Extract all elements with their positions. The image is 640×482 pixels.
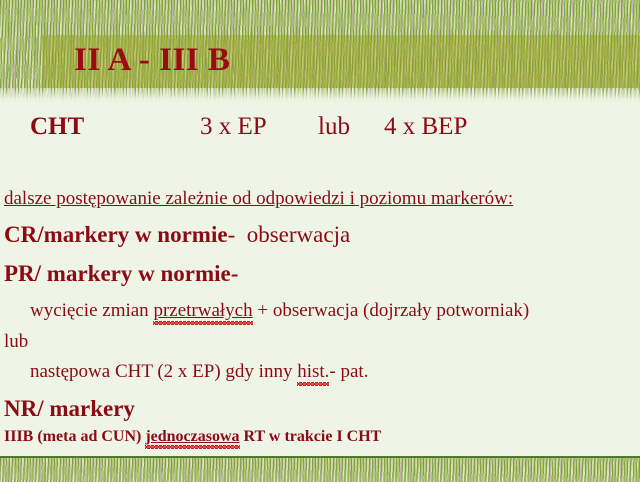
response-pr-row: PR/ markery w normie- bbox=[4, 261, 238, 287]
response-cr-label: CR/markery w normie bbox=[4, 222, 228, 247]
grass-footer-banner bbox=[0, 456, 640, 482]
nr-note-flagged-word: jednoczasowa bbox=[145, 428, 239, 445]
page-title: II A - III B bbox=[74, 42, 230, 79]
response-nr-label: NR/ markery bbox=[4, 396, 135, 422]
section-header: dalsze postępowanie zależnie od odpowied… bbox=[4, 188, 513, 210]
pr-detail-flagged-word: przetrwałych bbox=[153, 300, 252, 321]
regimen-conjunction: lub bbox=[318, 113, 350, 141]
pr-detail-suffix: + obserwacja (dojrzały potworniak) bbox=[253, 300, 530, 321]
pr-alt-prefix: następowa CHT (2 x EP) gdy inny bbox=[30, 361, 297, 382]
pr-alt-suffix: - pat. bbox=[329, 361, 368, 382]
slide: II A - III B CHT 3 x EP lub 4 x BEP dals… bbox=[0, 0, 640, 480]
response-nr-note: IIIB (meta ad CUN) jednoczasowa RT w tra… bbox=[4, 428, 381, 446]
pr-detail-prefix: wycięcie zmian bbox=[30, 300, 153, 321]
response-cr-separator: - bbox=[228, 222, 236, 247]
nr-note-suffix: RT w trakcie I CHT bbox=[240, 428, 382, 445]
pr-alt-flagged-word: hist. bbox=[297, 361, 329, 382]
chemotherapy-label: CHT bbox=[30, 113, 84, 141]
regimen-option-a: 3 x EP bbox=[200, 113, 267, 141]
response-pr-label: PR/ markery w normie bbox=[4, 261, 231, 286]
response-pr-detail: wycięcie zmian przetrwałych + obserwacja… bbox=[30, 300, 529, 322]
response-cr-row: CR/markery w normie- obserwacja bbox=[4, 222, 350, 248]
response-pr-alt-conjunction: lub bbox=[4, 331, 28, 353]
nr-note-prefix: IIIB (meta ad CUN) bbox=[4, 428, 145, 445]
response-cr-action: obserwacja bbox=[247, 222, 350, 247]
regimen-option-b: 4 x BEP bbox=[384, 113, 467, 141]
response-pr-alternative: następowa CHT (2 x EP) gdy inny hist.- p… bbox=[30, 361, 368, 383]
slide-body: CHT 3 x EP lub 4 x BEP dalsze postępowan… bbox=[0, 104, 640, 456]
response-pr-separator: - bbox=[231, 261, 239, 286]
